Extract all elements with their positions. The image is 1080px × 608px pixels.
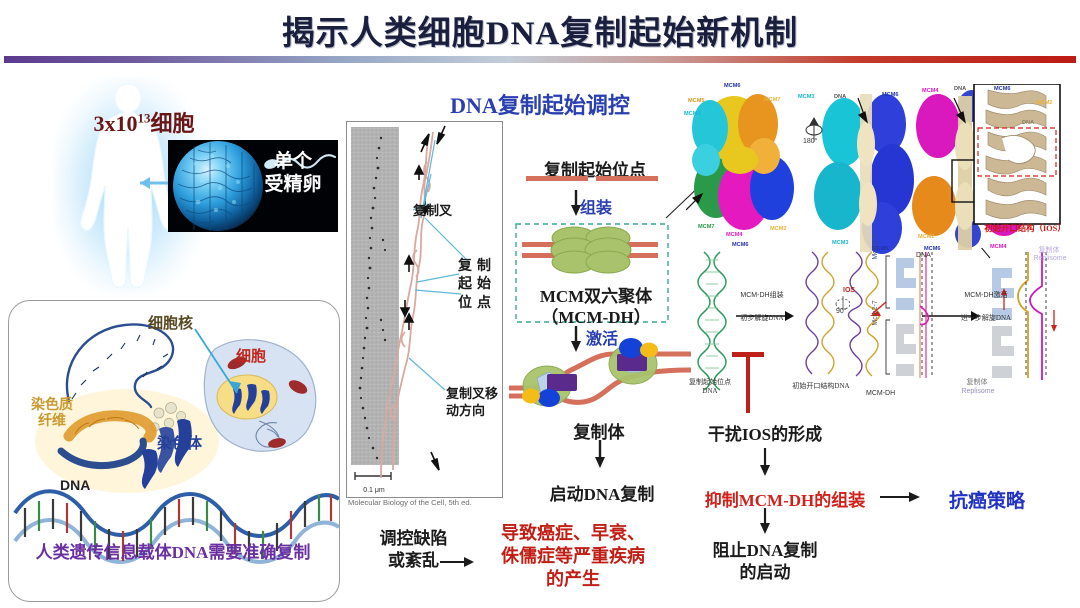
inhibitor-tbar-stem xyxy=(746,355,750,413)
mech-step1-top-label: MCM-DH组装 xyxy=(734,292,790,301)
cryoem-structures-group: MCM6 MCM5 MCM3 MCM7 MCM7 MCM4 MCM2 MCM6 … xyxy=(686,84,1078,262)
mcm-label-mcm7-a: MCM7 xyxy=(764,97,780,103)
egg-label: 单个 受精卵 xyxy=(252,150,334,196)
cell-count-unit: 细胞 xyxy=(150,111,194,136)
mcm-label-dna-inset: DNA xyxy=(1022,120,1034,126)
ios-structure-label: 初始开口结构（IOS） xyxy=(972,222,1078,234)
label-chromosome: 染色体 xyxy=(157,432,202,453)
mech-replisome-cn-bottom: 复制体 xyxy=(950,378,1004,387)
mcm-label-mcm5: MCM5 xyxy=(688,98,704,104)
mech-mcm-dh-label: MCM-DH xyxy=(866,390,895,399)
disease-line1: 导致癌症、早衰、 xyxy=(478,522,668,545)
mcm-label-mcm3-b: MCM3 xyxy=(798,94,814,100)
cell-count-label: 3x1013细胞 xyxy=(44,106,244,138)
disease-line2: 侏儒症等严重疾病 xyxy=(478,545,668,568)
cell-count-value: 3x10 xyxy=(93,111,137,136)
micrograph-scale-bar-label: 0.1 μm xyxy=(352,487,396,494)
mcm-label-mcm6-c: MCM6 xyxy=(882,92,898,98)
egg-label-line1: 单个 xyxy=(252,150,334,173)
defect-to-disease-arrow xyxy=(440,554,478,570)
rotation-180-label: 180° xyxy=(803,138,817,145)
label-chromatin-fiber-line1: 染色质 xyxy=(24,398,80,414)
disease-line3: 的产生 xyxy=(478,568,668,591)
label-chromatin-fiber-line2: 纤维 xyxy=(24,414,80,430)
mcm-label-mcm2-b: MCM2 xyxy=(1036,100,1052,106)
mcm-label-mcm2-a: MCM2 xyxy=(770,226,786,232)
mech-mcm27-bottom-label: Mcm2-7 xyxy=(872,288,881,338)
mcm-label-mcm2-c: MCM2 xyxy=(918,234,934,240)
label-replication-origin-col2: 制始点 xyxy=(477,258,493,313)
mcm-label-dna-b: DNA xyxy=(954,86,966,92)
mech-rotate90-label: 90° xyxy=(836,308,847,317)
mech-step2-bottom-label: 进一步解旋DNA xyxy=(952,314,1020,323)
mech-open-structure-label: 初始开口结构DNA xyxy=(790,382,852,391)
mech-origin-dna-label: 复制起始位点DNA xyxy=(688,378,732,396)
arrow-inhibit-to-strategy xyxy=(880,488,924,506)
block-replication-label: 阻止DNA复制 的启动 xyxy=(690,540,840,584)
inhibit-mcm-label: 抑制MCM-DH的组装 xyxy=(690,486,880,511)
label-replication-origin-col1: 复起位 xyxy=(458,258,474,313)
anticancer-strategy-label: 抗癌策略 xyxy=(922,486,1052,513)
disease-label: 导致癌症、早衰、 侏儒症等严重疾病 的产生 xyxy=(478,522,668,591)
mech-step1-bottom-label: 初步解旋DNA xyxy=(732,314,792,323)
cell-diagram-caption: 人类遗传信息载体DNA需要准确复制 xyxy=(10,538,336,563)
label-nucleus: 细胞核 xyxy=(148,312,193,333)
block-replication-line2: 的启动 xyxy=(690,562,840,584)
mech-replisome-cn-top: 复制体 xyxy=(1024,246,1074,255)
center-arrow-to-start xyxy=(590,440,610,472)
label-cell: 细胞 xyxy=(236,345,266,366)
mcm-label-mcm6-e: MCM6 xyxy=(994,86,1010,92)
label-replication-fork: 复制叉 xyxy=(413,200,452,219)
mech-ios-tag: IOS xyxy=(843,287,855,296)
mech-step2-top-label: MCM-DH激活 xyxy=(956,292,1016,301)
center-start-replication-label: 启动DNA复制 xyxy=(527,480,677,505)
page-title: 揭示人类细胞DNA复制起始新机制 xyxy=(0,6,1080,54)
title-gradient-bar xyxy=(4,56,1076,63)
poster-canvas: 揭示人类细胞DNA复制起始新机制 3x1013细胞 xyxy=(0,0,1080,608)
mech-dna-tag: DNA xyxy=(916,252,931,261)
mech-mcm27-top-label: Mcm2-7 xyxy=(872,222,881,272)
mcm-label-mcm4-a: MCM4 xyxy=(726,232,742,238)
mcm-label-mcm4-b: MCM4 xyxy=(922,88,938,94)
mcm-label-mcm6-a: MCM6 xyxy=(724,83,740,89)
replisome-graphic xyxy=(505,336,695,416)
arrow-disturb-to-inhibit xyxy=(755,448,775,480)
label-fork-direction: 复制叉移动方向 xyxy=(446,386,504,420)
mcm-label-mcm3-c: MCM3 xyxy=(832,240,848,246)
mcm-label-mcm3-a: MCM3 xyxy=(684,111,700,117)
disturb-ios-label: 干扰IOS的形成 xyxy=(690,420,840,445)
mcm-label-dna-a: DNA xyxy=(834,94,846,100)
cryoem-maps xyxy=(686,84,1078,262)
mcm-label-mcm7-b: MCM7 xyxy=(698,224,714,230)
cell-count-exponent: 13 xyxy=(137,111,150,126)
center-assemble-label: 组装 xyxy=(580,194,612,218)
center-section-title: DNA复制起始调控 xyxy=(400,88,680,120)
egg-label-line2: 受精卵 xyxy=(252,173,334,196)
arrow-inhibit-to-block xyxy=(755,508,775,538)
defect-line1: 调控缺陷 xyxy=(356,528,471,550)
label-dna: DNA xyxy=(60,477,90,493)
micrograph-citation: Molecular Biology of the Cell, 5th ed. xyxy=(348,498,498,507)
mech-replisome-en-top: Replisome xyxy=(1022,255,1078,264)
block-replication-line1: 阻止DNA复制 xyxy=(690,540,840,562)
mech-replisome-en-bottom: Replisome xyxy=(948,388,1008,397)
label-chromatin-fiber: 染色质 纤维 xyxy=(24,398,80,430)
